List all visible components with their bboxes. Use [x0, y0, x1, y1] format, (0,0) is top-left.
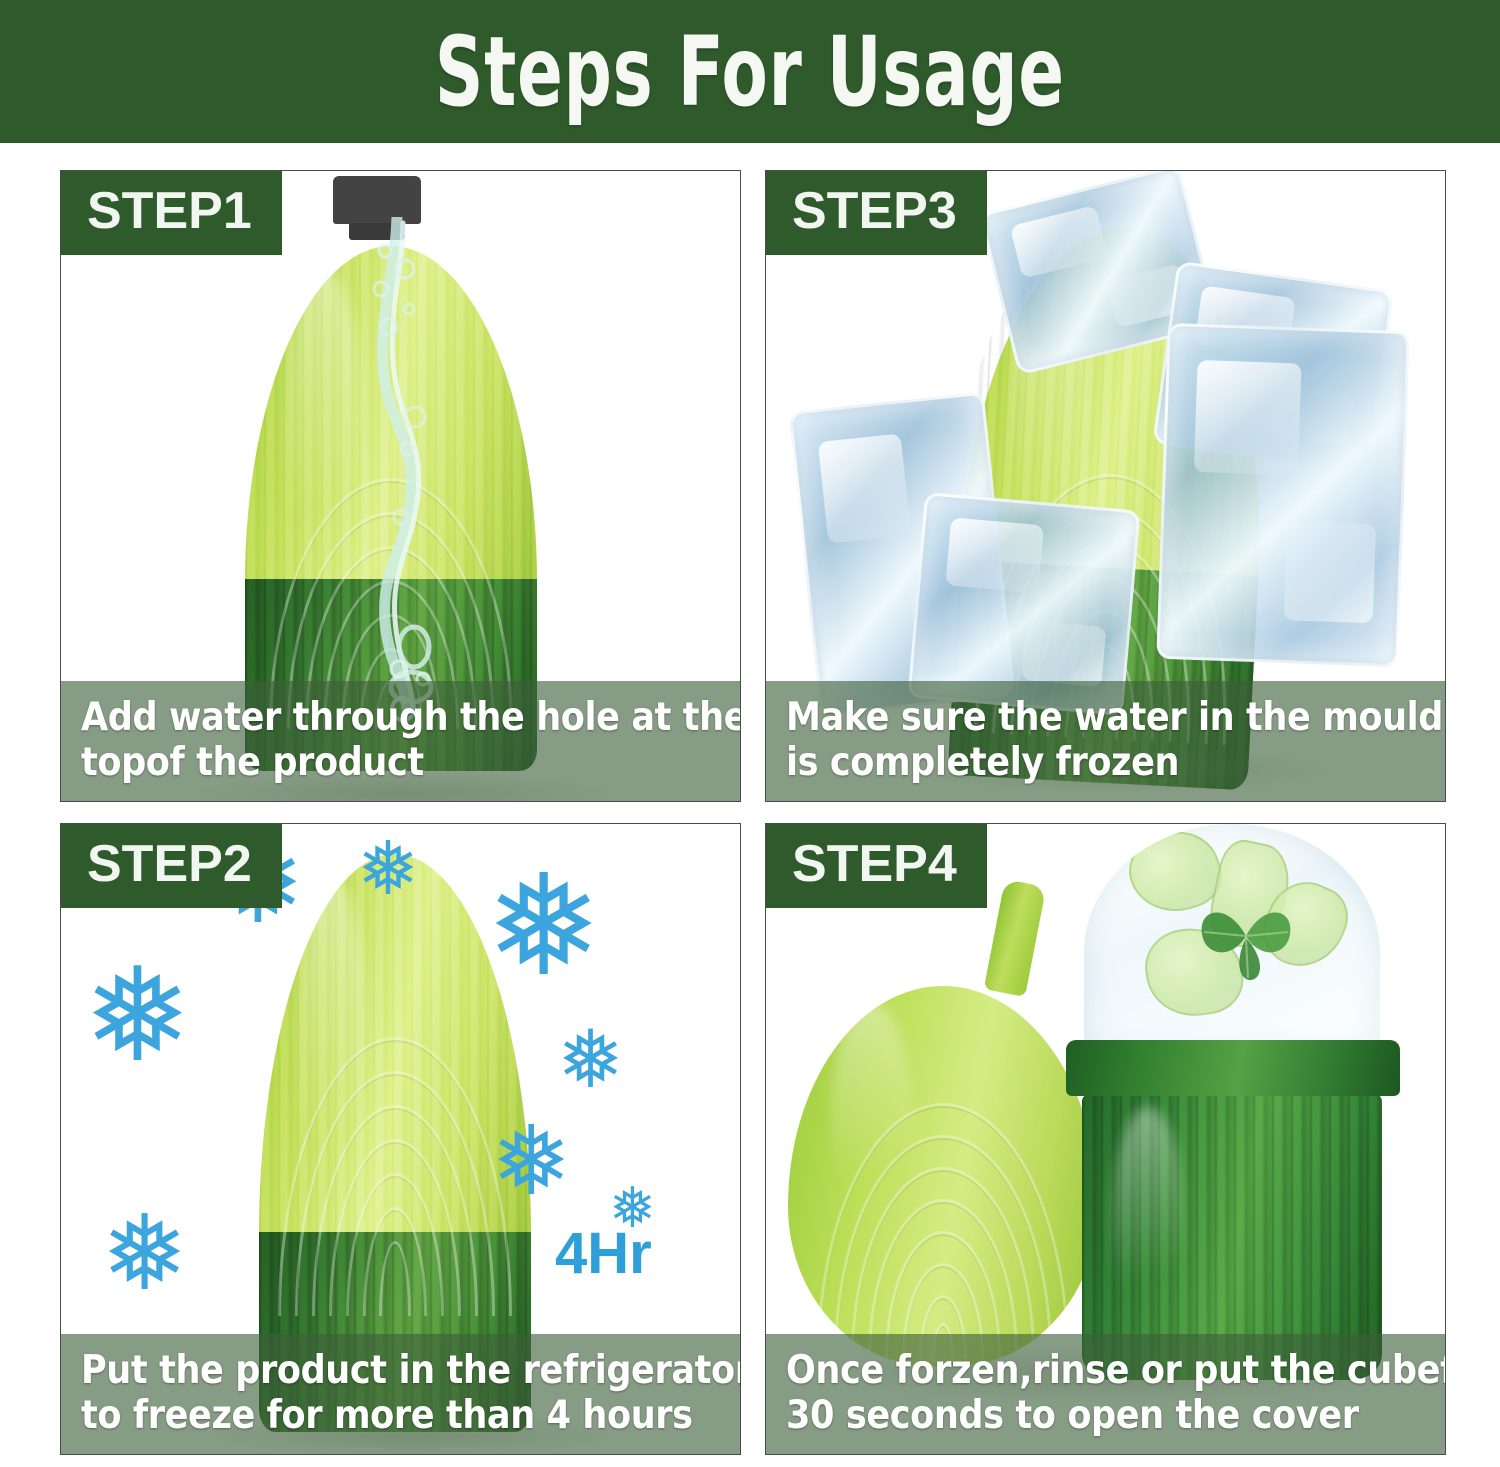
- gloss-highlight: [831, 1001, 912, 1237]
- snowflake-icon: ❅: [83, 950, 192, 1080]
- ice-cube: [1156, 323, 1410, 667]
- ice-dome: [1084, 824, 1380, 1054]
- step-badge-step3: STEP3: [766, 171, 987, 255]
- step-badge-step2: STEP2: [61, 824, 282, 908]
- capsule-top-dome: [245, 246, 537, 582]
- step-panel-step1[interactable]: STEP1 Add water through the hole at the …: [60, 170, 741, 802]
- arch-ridges: [793, 1058, 1093, 1358]
- caption-line-1: Put the product in the refrigerator: [81, 1348, 724, 1393]
- caption-line-1: Add water through the hole at the: [81, 695, 724, 740]
- step-caption-step1: Add water through the hole at the topof …: [61, 681, 740, 801]
- lid-icon: [788, 986, 1098, 1366]
- step-badge-step1: STEP1: [61, 171, 282, 255]
- page-header: Steps For Usage: [0, 0, 1500, 143]
- caption-line-2: 30 seconds to open the cover: [786, 1393, 1429, 1438]
- caption-line-1: Once forzen,rinse or put the cubefor: [786, 1348, 1429, 1393]
- caption-line-2: topof the product: [81, 740, 724, 785]
- snowflake-icon: ❅: [557, 1020, 624, 1100]
- caption-line-1: Make sure the water in the mould: [786, 695, 1429, 740]
- faucet-icon: [333, 176, 421, 224]
- step-caption-step4: Once forzen,rinse or put the cubefor 30 …: [766, 1334, 1445, 1454]
- duration-label: 4Hr: [555, 1220, 652, 1287]
- step-caption-step2: Put the product in the refrigerator to f…: [61, 1334, 740, 1454]
- caption-line-2: to freeze for more than 4 hours: [81, 1393, 724, 1438]
- steps-grid: STEP1 Add water through the hole at the …: [60, 170, 1440, 1455]
- page-title: Steps For Usage: [435, 16, 1065, 128]
- snowflake-icon: ❅: [101, 1202, 188, 1306]
- gloss-highlight: [1112, 1107, 1184, 1339]
- step-panel-step2[interactable]: ❅ ❅ ❅ ❅ ❅ ❅ ❅ ❅: [60, 823, 741, 1455]
- base-collar: [1066, 1040, 1400, 1096]
- step-panel-step4[interactable]: STEP4 Once forzen,rinse or put the cubef…: [765, 823, 1446, 1455]
- caption-line-2: is completely frozen: [786, 740, 1429, 785]
- step-caption-step3: Make sure the water in the mould is comp…: [766, 681, 1445, 801]
- step-panel-step3[interactable]: STEP3 Make sure the water in the mould i…: [765, 170, 1446, 802]
- step-badge-step4: STEP4: [766, 824, 987, 908]
- capsule-top-dome: [259, 854, 531, 1235]
- mint-leaf-icon: [1188, 886, 1306, 982]
- lid-tab-icon: [984, 879, 1047, 997]
